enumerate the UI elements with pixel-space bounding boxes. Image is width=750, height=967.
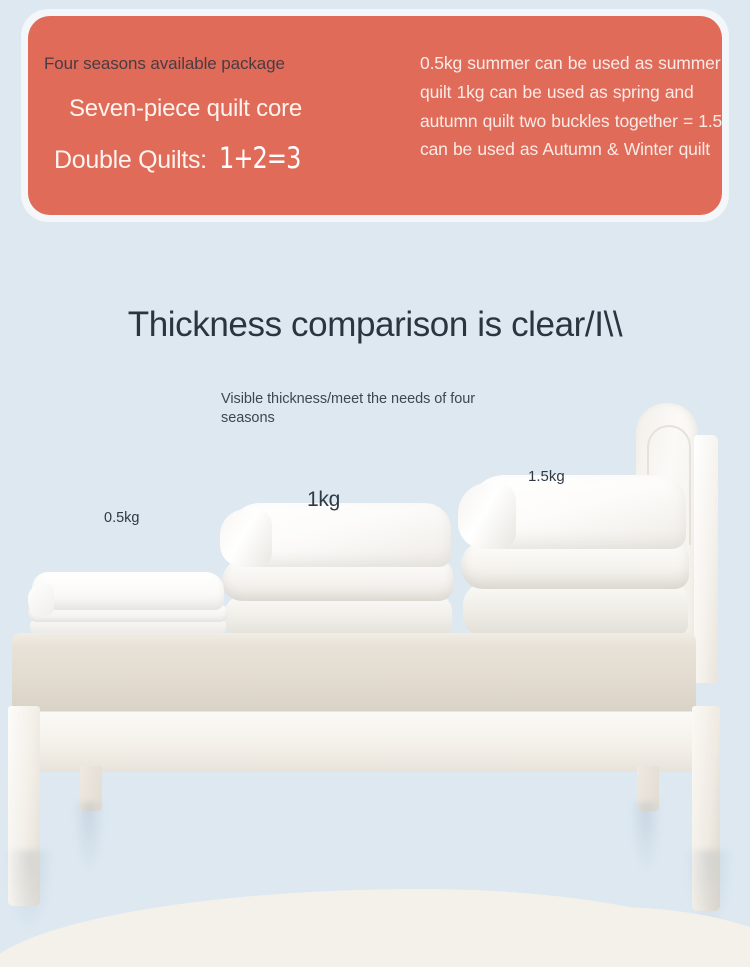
quilt-heavy-1-5kg [458, 475, 690, 637]
bed-frame-rail [8, 712, 702, 772]
promo-headline: Seven-piece quilt core [38, 95, 428, 123]
promo-subline: Double Quilts: 1+2=3 [38, 141, 428, 175]
quilt-light-top-layer [32, 572, 224, 610]
promo-card: Four seasons available package Seven-pie… [28, 16, 722, 215]
product-detail-page: Four seasons available package Seven-pie… [0, 0, 750, 967]
quilt-light-0-5kg [28, 572, 228, 636]
weight-label-light: 0.5kg [104, 510, 139, 526]
quilt-light-fold-edge [28, 584, 54, 616]
quilt-heavy-bottom-fold [463, 583, 688, 635]
promo-equation: 1+2=3 [219, 141, 300, 175]
product-photo-scene: 0.5kg 1kg 1.5kg [0, 380, 750, 967]
promo-eyebrow: Four seasons available package [38, 54, 428, 74]
mattress-top-edge [12, 633, 696, 645]
bed-mattress [12, 633, 696, 711]
headboard-side-post [694, 435, 718, 683]
section-heading: Thickness comparison is clear/I\\ [0, 305, 750, 345]
bed-leg-shadow-mid-right [631, 802, 661, 872]
promo-description: 0.5kg summer can be used as summer quilt… [420, 49, 722, 164]
bed-leg-shadow-left [6, 850, 52, 930]
quilt-heavy-roll-end [458, 483, 516, 549]
promo-left-column: Four seasons available package Seven-pie… [38, 54, 428, 175]
quilt-medium-bottom-fold [224, 595, 452, 637]
promo-subline-label: Double Quilts: [54, 146, 207, 175]
bed-leg-shadow-mid-left [74, 802, 104, 872]
quilt-medium-1kg [220, 503, 455, 637]
weight-label-heavy: 1.5kg [528, 468, 565, 485]
weight-label-medium: 1kg [307, 488, 340, 512]
quilt-medium-roll-end [220, 509, 272, 567]
